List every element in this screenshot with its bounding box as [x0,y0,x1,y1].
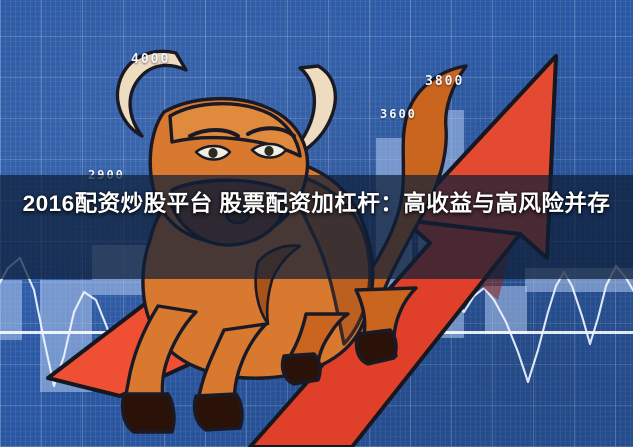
axis-label-3600: 3600 [380,107,417,121]
bull-hoof-rear-right [356,330,396,364]
bull-hoof-rear-mid [282,354,320,384]
banner-image: 4000380036002900 2016配资炒股平台 股票配资加杠杆：高收益与… [0,0,633,447]
bull-pupil-right [264,146,273,156]
axis-label-3800: 3800 [425,74,464,89]
page-title: 2016配资炒股平台 股票配资加杠杆：高收益与高风险并存 [0,186,633,221]
bull-pupil-left [208,148,217,158]
bull-hoof-front-right [194,394,242,430]
bull-hoof-front-left [122,394,174,432]
axis-label-4000: 4000 [131,52,170,67]
